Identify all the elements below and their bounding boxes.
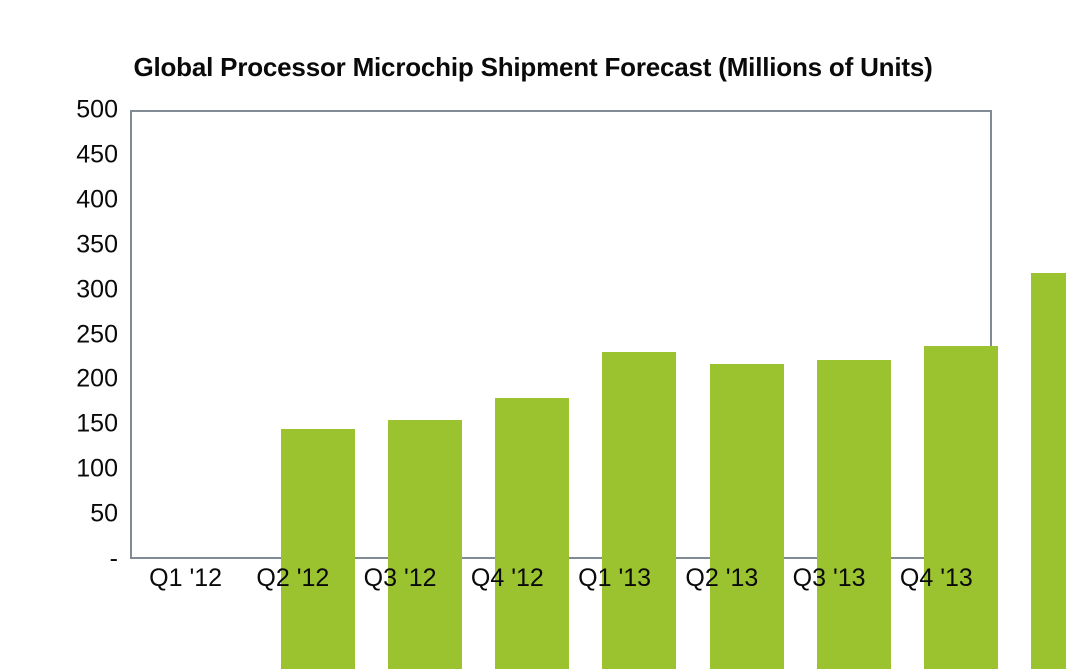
- y-axis-tick-label: 100: [0, 457, 118, 482]
- bar-slot: [1015, 224, 1066, 669]
- x-axis-tick-label: Q4 '12: [454, 565, 561, 593]
- x-axis-tick-label: Q3 '13: [776, 565, 883, 593]
- x-axis-tick-label: Q1 '12: [132, 565, 239, 593]
- y-axis-tick-label: 150: [0, 412, 118, 437]
- bar-q312: [495, 398, 569, 669]
- chart-title: Global Processor Microchip Shipment Fore…: [0, 52, 1066, 83]
- plot-area: [130, 110, 992, 559]
- y-axis-tick-label: 400: [0, 187, 118, 212]
- y-axis-tick-label: 350: [0, 232, 118, 257]
- y-axis-tick-label: 450: [0, 142, 118, 167]
- x-axis-tick-label: Q3 '12: [347, 565, 454, 593]
- y-axis-tick-label: 50: [0, 502, 118, 527]
- bar-q212: [388, 420, 462, 669]
- x-axis: Q1 '12Q2 '12Q3 '12Q4 '12Q1 '13Q2 '13Q3 '…: [132, 565, 990, 610]
- x-axis-tick-label: Q1 '13: [561, 565, 668, 593]
- x-axis-tick-label: Q2 '12: [239, 565, 346, 593]
- y-axis-tick-label: 500: [0, 98, 118, 123]
- y-axis-tick-label: 250: [0, 322, 118, 347]
- y-axis-tick-label: -: [0, 547, 118, 572]
- chart-container: Global Processor Microchip Shipment Fore…: [0, 0, 1066, 638]
- bar-q213: [817, 360, 891, 669]
- y-axis-tick-label: 200: [0, 367, 118, 392]
- bar-q413: [1031, 273, 1066, 669]
- x-axis-tick-label: Q2 '13: [668, 565, 775, 593]
- bar-q412: [602, 352, 676, 669]
- y-axis: 50045040035030025020015010050-: [0, 110, 118, 559]
- bar-q313: [924, 346, 998, 669]
- x-axis-tick-label: Q4 '13: [883, 565, 990, 593]
- bar-q113: [710, 364, 784, 669]
- y-axis-tick-label: 300: [0, 277, 118, 302]
- bar-q112: [281, 429, 355, 669]
